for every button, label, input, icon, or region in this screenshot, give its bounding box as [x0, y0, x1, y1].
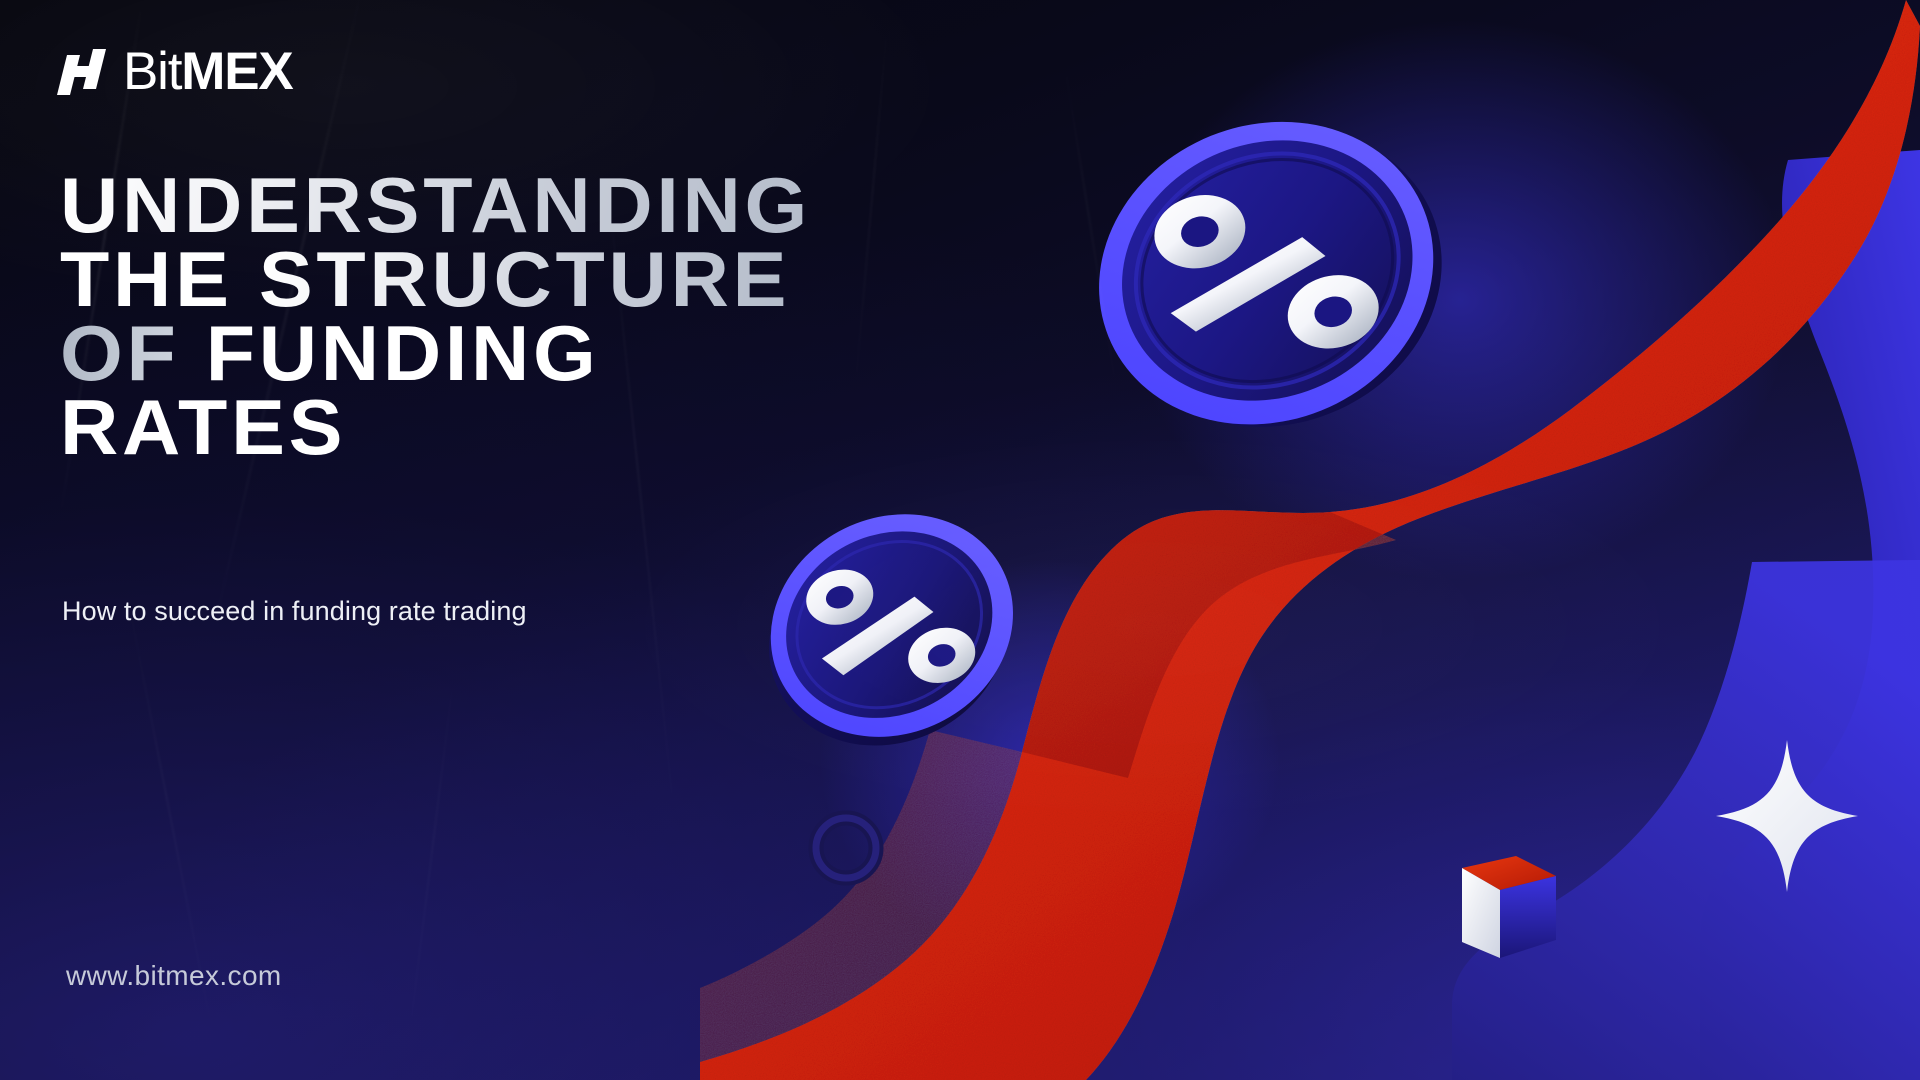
- headline-line-1: UNDERSTANDING: [60, 168, 1105, 242]
- poster-canvas: BitMEX UNDERSTANDING THE STRUCTURE OF FU…: [0, 0, 1920, 1080]
- bitmex-logo[interactable]: BitMEX: [62, 45, 293, 98]
- percent-coin-small: [746, 496, 1036, 756]
- wordmark-mex: MEX: [181, 42, 292, 101]
- percent-coin-large: [1058, 112, 1478, 422]
- headline-line-2: THE STRUCTURE: [60, 242, 1105, 316]
- cube-icon: [1462, 856, 1556, 958]
- wordmark-bit: Bit: [123, 42, 181, 101]
- subtitle: How to succeed in funding rate trading: [62, 596, 527, 627]
- bitmex-wordmark: BitMEX: [123, 45, 293, 98]
- bitmex-logo-mark: [62, 49, 110, 95]
- headline-line-3: OF FUNDING: [60, 316, 1105, 390]
- headline-word-rates: RATES: [60, 383, 346, 471]
- headline-line-4: RATES: [60, 390, 1105, 464]
- website-url[interactable]: www.bitmex.com: [66, 960, 282, 992]
- page-title: UNDERSTANDING THE STRUCTURE OF FUNDING R…: [60, 168, 1070, 464]
